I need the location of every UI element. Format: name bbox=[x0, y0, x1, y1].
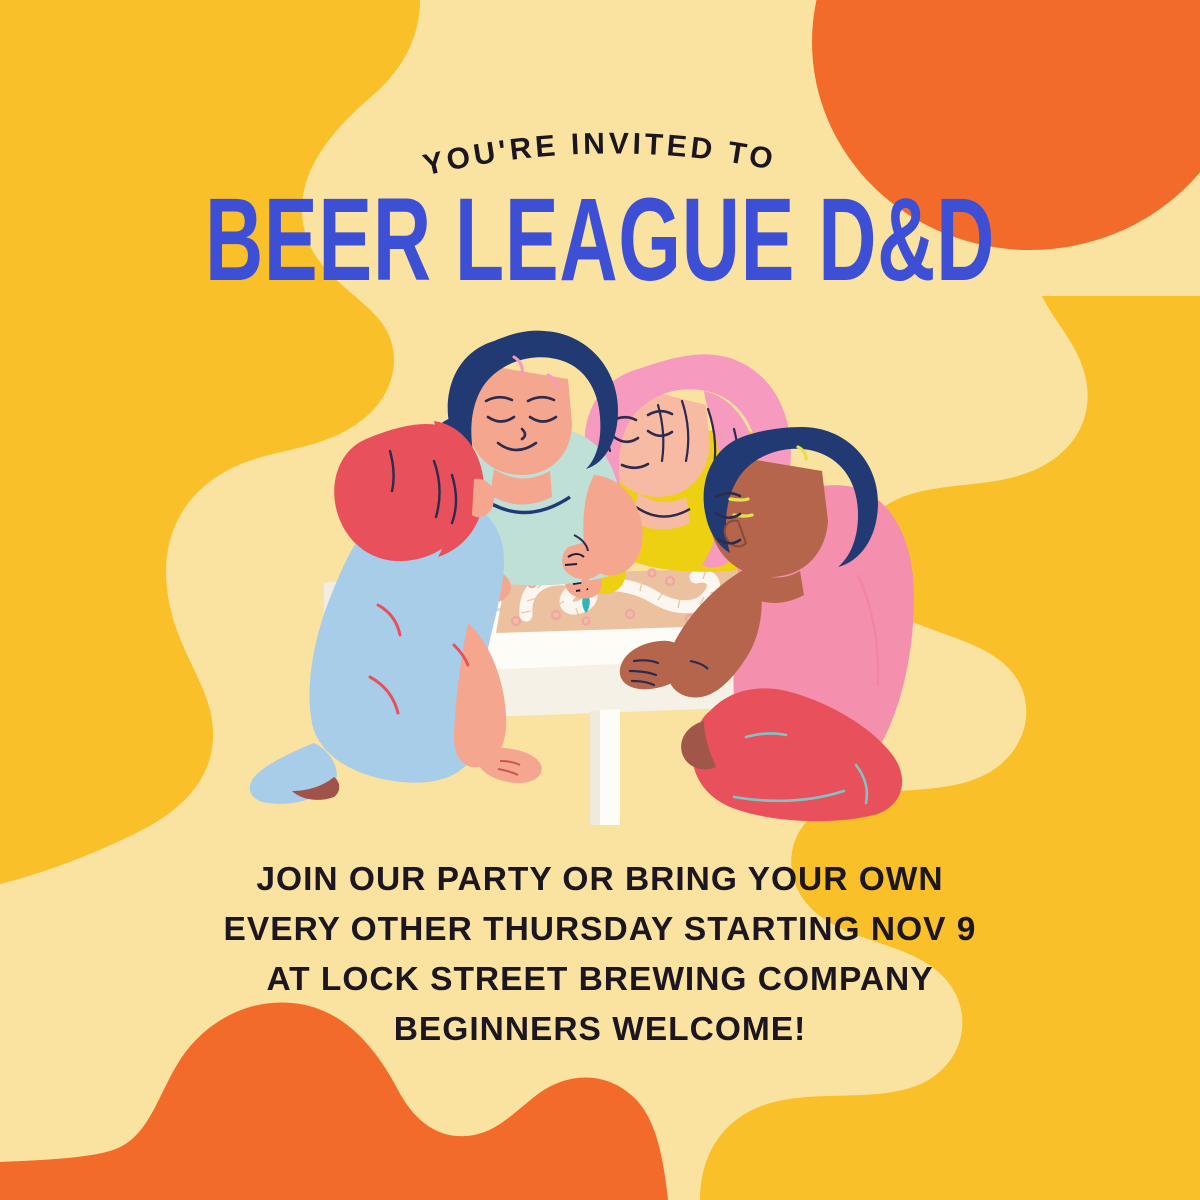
event-detail-line-3: AT LOCK STREET BREWING COMPANY bbox=[0, 955, 1200, 1005]
invitation-poster: YOU'RE INVITED TO BEER LEAGUE D&D bbox=[0, 0, 1200, 1200]
event-detail-line-4: BEGINNERS WELCOME! bbox=[0, 1005, 1200, 1055]
event-detail-line-2: EVERY OTHER THURSDAY STARTING NOV 9 bbox=[0, 905, 1200, 955]
event-details-block: JOIN OUR PARTY OR BRING YOUR OWN EVERY O… bbox=[0, 855, 1200, 1055]
illustration-four-friends-board-game bbox=[238, 325, 978, 840]
poster-title-text: BEER LEAGUE D&D bbox=[205, 182, 995, 302]
poster-title: BEER LEAGUE D&D bbox=[0, 182, 1200, 302]
event-detail-line-1: JOIN OUR PARTY OR BRING YOUR OWN bbox=[0, 855, 1200, 905]
